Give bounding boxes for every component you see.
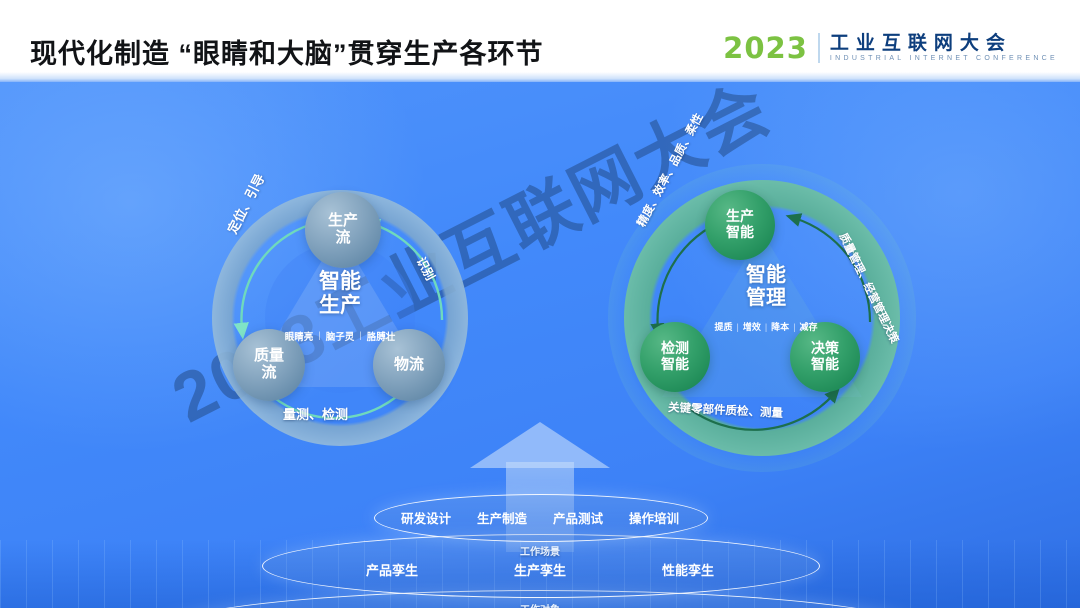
node-production-flow[interactable]: 生产 流 xyxy=(305,192,381,268)
right-tag-1: 提质 xyxy=(714,320,732,333)
left-center-title: 智能 生产 xyxy=(270,270,410,319)
node-production-intelligence-line1: 生产 xyxy=(726,209,754,225)
conference-logo: 2023 工业互联网大会 INDUSTRIAL INTERNET CONFERE… xyxy=(723,28,1058,68)
node-production-flow-line2: 流 xyxy=(335,230,350,247)
right-center-title-line2: 管理 xyxy=(682,287,850,310)
tag-separator: | xyxy=(318,330,320,341)
node-production-intelligence-line2: 智能 xyxy=(726,225,754,241)
layer-work-object-caption: 工作对象 xyxy=(262,601,818,608)
tag-separator: | xyxy=(793,322,795,332)
node-production-flow-line1: 生产 xyxy=(328,213,358,230)
layer2-item-1[interactable]: 产品孪生 xyxy=(366,560,418,579)
slide-root: 现代化制造 “眼睛和大脑”贯穿生产各环节 2023 工业互联网大会 INDUST… xyxy=(0,0,1080,608)
logo-divider xyxy=(818,33,820,63)
logo-text-group: 工业互联网大会 INDUSTRIAL INTERNET CONFERENCE xyxy=(830,34,1058,62)
left-center-title-line2: 生产 xyxy=(270,294,410,318)
node-inspection-intelligence-line2: 智能 xyxy=(661,357,689,373)
left-center-title-line1: 智能 xyxy=(270,270,410,294)
layer1-item-3[interactable]: 产品测试 xyxy=(553,508,603,527)
left-tag-2: 脑子灵 xyxy=(326,329,355,343)
right-center-label: 智能 管理 提质 | 增效 | 降本 | 减存 xyxy=(682,264,850,333)
tag-separator: | xyxy=(359,330,361,341)
layer-work-scenario-caption: 工作场景 xyxy=(374,543,706,558)
right-center-title: 智能 管理 xyxy=(682,264,850,310)
node-logistics-flow-line1: 物流 xyxy=(394,357,424,374)
right-tag-4: 减存 xyxy=(800,320,818,333)
left-center-label: 智能 生产 眼睛亮 | 脑子灵 | 胳膊壮 xyxy=(270,270,410,343)
logo-year-text: 2023 xyxy=(723,34,808,63)
tag-separator: | xyxy=(736,322,738,332)
left-arc-label-measure: 量测、检测 xyxy=(283,404,348,423)
right-center-title-line1: 智能 xyxy=(682,264,850,287)
logo-chinese-name: 工业互联网大会 xyxy=(830,34,1058,54)
left-tag-3: 胳膊壮 xyxy=(367,329,396,343)
logo-english-name: INDUSTRIAL INTERNET CONFERENCE xyxy=(830,55,1058,62)
right-center-tags: 提质 | 增效 | 降本 | 减存 xyxy=(682,320,850,333)
node-decision-intelligence-line2: 智能 xyxy=(811,357,839,373)
right-tag-3: 降本 xyxy=(771,320,789,333)
left-center-tags: 眼睛亮 | 脑子灵 | 胳膊壮 xyxy=(270,329,410,343)
node-quality-flow-line2: 流 xyxy=(261,365,276,382)
node-production-intelligence[interactable]: 生产 智能 xyxy=(705,190,775,260)
node-inspection-intelligence-line1: 检测 xyxy=(661,341,689,357)
layer1-item-2[interactable]: 生产制造 xyxy=(477,508,527,527)
node-quality-flow-line1: 质量 xyxy=(254,348,284,365)
page-title: 现代化制造 “眼睛和大脑”贯穿生产各环节 xyxy=(30,32,544,71)
node-decision-intelligence-line1: 决策 xyxy=(811,341,839,357)
slide-header: 现代化制造 “眼睛和大脑”贯穿生产各环节 2023 工业互联网大会 INDUST… xyxy=(0,0,1080,82)
tag-separator: | xyxy=(765,322,767,332)
layer-work-scenario-items: 研发设计 生产制造 产品测试 操作培训 xyxy=(374,494,706,540)
layer2-item-2[interactable]: 生产孪生 xyxy=(514,560,566,579)
header-gradient-divider xyxy=(0,72,1080,82)
slide-body: 2023工业互联网大会 生产 流 质量 流 xyxy=(0,82,1080,608)
left-tag-1: 眼睛亮 xyxy=(285,329,314,343)
layer1-item-1[interactable]: 研发设计 xyxy=(401,508,451,527)
right-tag-2: 增效 xyxy=(743,320,761,333)
layer1-item-4[interactable]: 操作培训 xyxy=(629,508,679,527)
layer2-item-3[interactable]: 性能孪生 xyxy=(662,560,714,579)
